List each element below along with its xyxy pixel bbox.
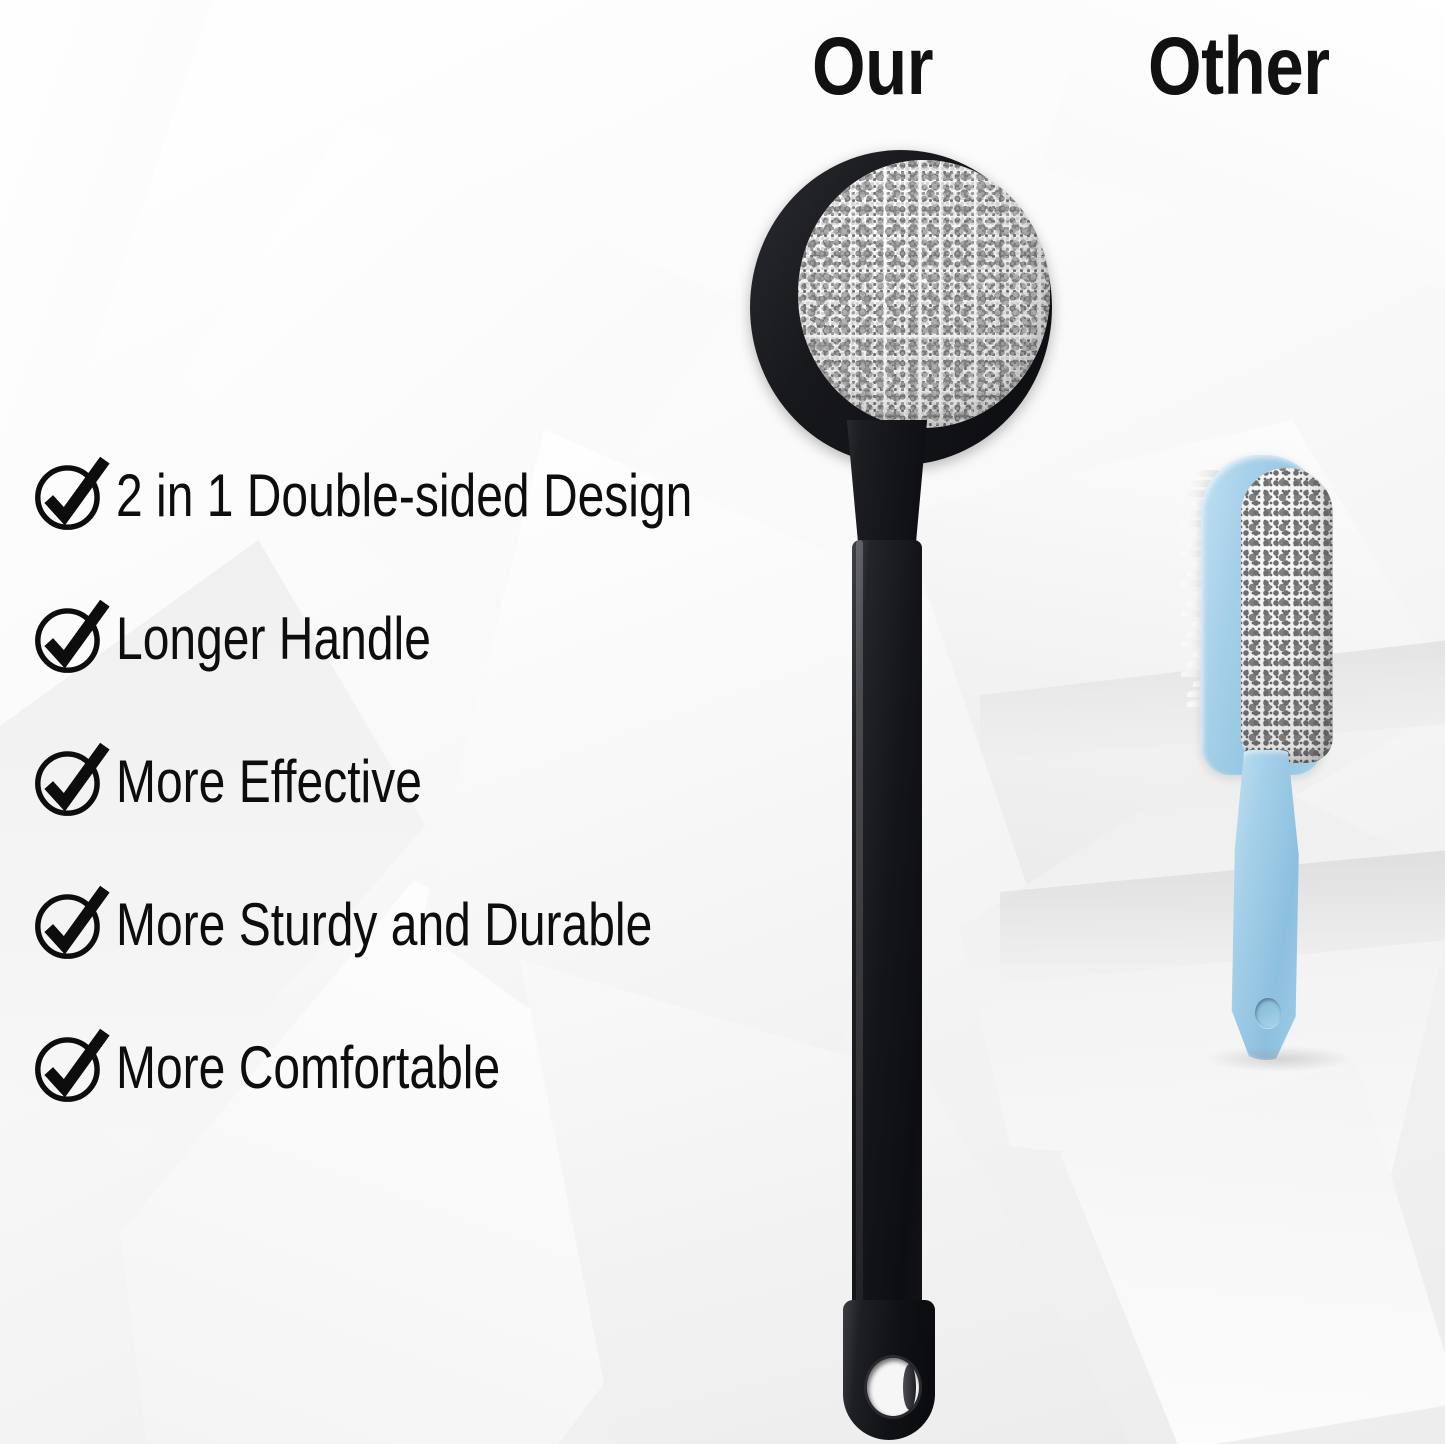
- pumice-stone-pad: [1241, 468, 1333, 763]
- feature-label: More Sturdy and Durable: [116, 895, 652, 955]
- feature-label: Longer Handle: [116, 609, 431, 669]
- other-product-image: [1175, 450, 1395, 1070]
- check-circle-icon: [30, 743, 108, 821]
- hang-hole: [1255, 998, 1281, 1028]
- check-circle-icon: [30, 1029, 108, 1107]
- our-product-image: [700, 120, 1060, 1440]
- check-circle-icon: [30, 600, 108, 678]
- column-heading-ours: Our: [812, 26, 933, 108]
- column-heading-other: Other: [1148, 26, 1330, 108]
- feature-label: More Comfortable: [116, 1038, 500, 1098]
- feature-label: 2 in 1 Double-sided Design: [116, 466, 692, 526]
- hang-hole: [867, 1358, 919, 1416]
- feature-label: More Effective: [116, 752, 422, 812]
- check-circle-icon: [30, 886, 108, 964]
- drop-shadow: [1205, 1046, 1355, 1072]
- check-circle-icon: [30, 457, 108, 535]
- product-comparison-image: Our Other 2 in 1 Double-sided Design Lon…: [0, 0, 1445, 1444]
- pumice-stone-disc: [798, 160, 1050, 428]
- handle-shaft: [852, 540, 922, 1330]
